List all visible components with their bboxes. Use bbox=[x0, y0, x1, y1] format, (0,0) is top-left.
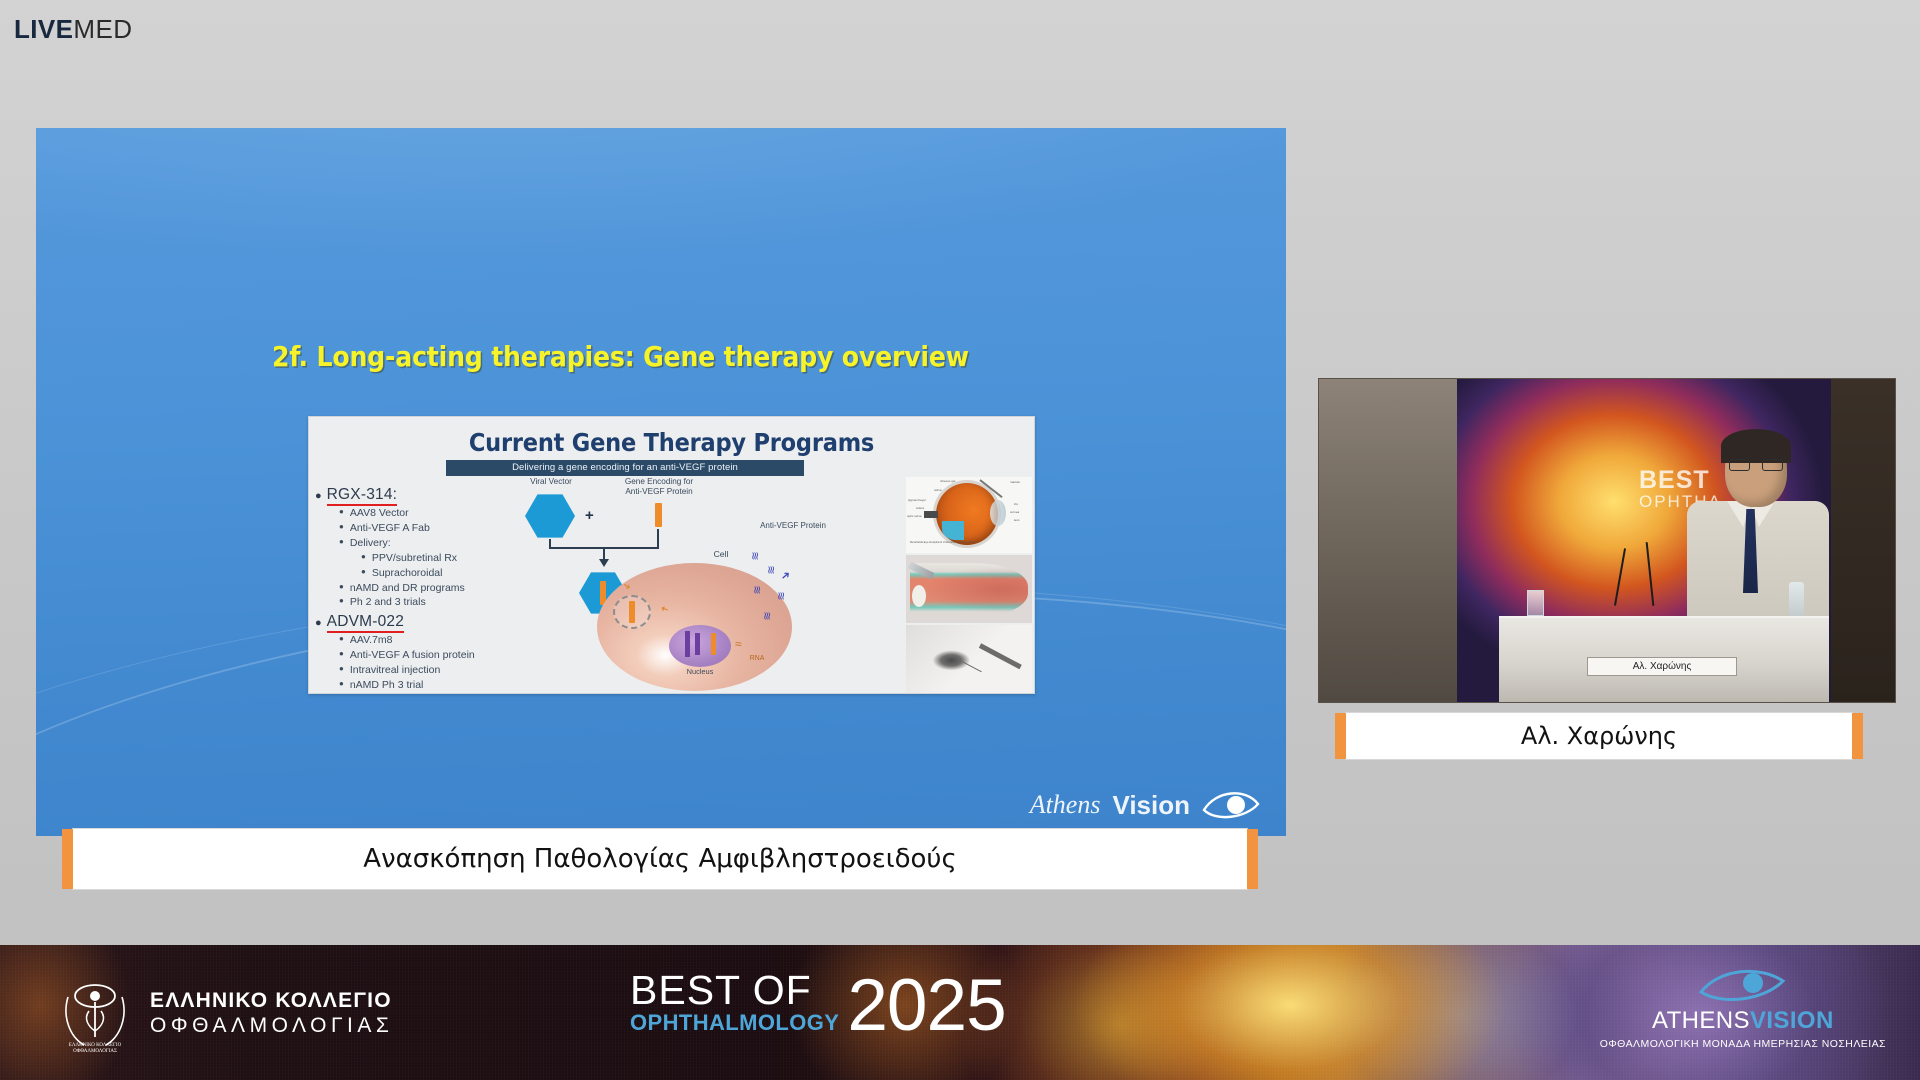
video-wall-right bbox=[1831, 379, 1895, 702]
gene-delivery-mechanism-diagram: Viral Vector + Gene Encoding for Anti-VE… bbox=[505, 477, 835, 694]
program-detail-text: Intravitreal injection bbox=[350, 663, 440, 678]
label-gene-encoding-line2: Anti-VEGF Protein bbox=[603, 487, 715, 497]
label-lens: lens bbox=[1014, 518, 1020, 522]
program-detail: ●Intravitreal injection bbox=[339, 663, 520, 678]
speaker-caption-bar: Αλ. Χαρώνης bbox=[1345, 712, 1853, 760]
water-bottle bbox=[1789, 582, 1804, 616]
caption-accent-right bbox=[1247, 829, 1258, 889]
podium-nameplate: Αλ. Χαρώνης bbox=[1587, 657, 1737, 676]
label-anti-vegf-protein: Anti-VEGF Protein bbox=[751, 521, 835, 531]
event-banner: ΕΛΛΗΝΙΚΟ ΚΟΛΛΕΓΙΟ ΟΦΘΑΛΜΟΛΟΓΙΑΣ ΕΛΛΗΝΙΚΟ… bbox=[0, 945, 1920, 1080]
arrow-head-down bbox=[599, 559, 609, 567]
bracket-right-leg bbox=[657, 529, 659, 549]
program-detail: ●Ph 2 and 3 trials bbox=[339, 595, 520, 610]
program-detail: ●nAMD Ph 3 trial bbox=[339, 678, 520, 693]
eye-illustration-panels: vitreous gel retina pigment layer sclera… bbox=[906, 477, 1032, 693]
bullet-dot: ● bbox=[339, 506, 344, 521]
best-of-ophthalmology-logo: BEST OF OPHTHALMOLOGY 2025 bbox=[630, 971, 1006, 1036]
vesicle-gene-bar bbox=[629, 601, 635, 623]
bullet-dot: ● bbox=[339, 663, 344, 678]
gene-bar bbox=[655, 503, 662, 527]
label-macula: macula bbox=[1010, 480, 1020, 484]
speaker-caption-accent-right bbox=[1852, 713, 1863, 759]
protein-squiggle-3: ≋ bbox=[751, 585, 764, 593]
best-of-text: BEST OF bbox=[630, 971, 839, 1010]
athens-vision-eye-icon bbox=[1202, 788, 1260, 822]
college-name-line1: ΕΛΛΗΝΙΚΟ ΚΟΛΛΕΓΙΟ bbox=[150, 989, 393, 1014]
figure-subtitle: Delivering a gene encoding for an anti-V… bbox=[446, 460, 804, 476]
athens-text: ATHENS bbox=[1652, 1007, 1750, 1034]
bullet-dot: ● bbox=[339, 536, 344, 551]
program-detail: ●Suprachoroidal bbox=[361, 566, 520, 581]
bullet-dot: ● bbox=[339, 678, 344, 693]
program-detail: ●Delivery: bbox=[339, 536, 520, 551]
water-glass bbox=[1527, 590, 1544, 616]
program-detail: ●nAMD and DR programs bbox=[339, 581, 520, 596]
nucleus-dna-bar-2 bbox=[695, 633, 700, 655]
bullet-dot: ● bbox=[361, 551, 366, 566]
bullet-dot: ● bbox=[315, 618, 322, 629]
nucleus-body bbox=[669, 625, 731, 667]
athens-vision-name: ATHENSVISION bbox=[1600, 1007, 1886, 1035]
program-heading: ●RGX-314: bbox=[315, 486, 520, 506]
bullet-dot: ● bbox=[339, 521, 344, 536]
lens-shape bbox=[912, 585, 926, 607]
label-optic-nerve: optic nerve bbox=[907, 514, 922, 518]
bullet-dot: ● bbox=[339, 581, 344, 596]
label-viral-vector: Viral Vector bbox=[511, 477, 591, 487]
program-detail: ●PPV/subretinal Rx bbox=[361, 551, 520, 566]
injection-sketch bbox=[906, 625, 1032, 693]
program-heading: ●ADVM-022 bbox=[315, 613, 520, 633]
viral-vector-hexagon bbox=[525, 493, 575, 539]
protein-squiggle-4: ≋ bbox=[775, 591, 788, 599]
protein-squiggle-2: ≋ bbox=[765, 565, 778, 573]
plus-symbol: + bbox=[585, 507, 594, 524]
label-nucleus: Nucleus bbox=[671, 667, 729, 676]
label-rna: RNA bbox=[743, 655, 771, 664]
program-name: RGX-314: bbox=[327, 486, 398, 506]
speaker-hair bbox=[1721, 429, 1791, 463]
label-gene-encoding-line1: Gene Encoding for bbox=[603, 477, 715, 487]
event-year: 2025 bbox=[847, 975, 1005, 1036]
athens-vision-eye-logo-icon bbox=[1697, 965, 1789, 1005]
bullet-dot: ● bbox=[315, 491, 322, 502]
college-name-line2: ΟΦΘΑΛΜΟΛΟΓΙΑΣ bbox=[150, 1014, 393, 1039]
brand-live: LIVE bbox=[14, 14, 73, 45]
hellenic-college-logo: ΕΛΛΗΝΙΚΟ ΚΟΛΛΕΓΙΟ ΟΦΘΑΛΜΟΛΟΓΙΑΣ ΕΛΛΗΝΙΚΟ… bbox=[58, 975, 393, 1053]
slide-title: 2f. Long-acting therapies: Gene therapy … bbox=[272, 340, 1172, 373]
vision-text: VISION bbox=[1750, 1007, 1834, 1034]
video-wall-left bbox=[1319, 379, 1457, 702]
program-detail: ●AAV8 Vector bbox=[339, 506, 520, 521]
college-name: ΕΛΛΗΝΙΚΟ ΚΟΛΛΕΓΙΟ ΟΦΘΑΛΜΟΛΟΓΙΑΣ bbox=[150, 989, 393, 1039]
program-detail-text: Anti-VEGF A fusion protein bbox=[350, 648, 475, 663]
protein-squiggle-1: ≋ bbox=[749, 551, 762, 559]
program-detail-text: nAMD and DR programs bbox=[350, 581, 465, 596]
program-detail-text: Delivery: bbox=[350, 536, 391, 551]
presentation-slide[interactable]: Athens Vision 2f. Long-acting therapies:… bbox=[36, 128, 1286, 836]
program-detail-text: nAMD Ph 3 trial bbox=[350, 678, 424, 693]
label-iris: iris bbox=[1014, 502, 1018, 506]
program-detail-text: AAV8 Vector bbox=[350, 506, 409, 521]
athens-vision-subtitle: ΟΦΘΑΛΜΟΛΟΓΙΚΗ ΜΟΝΑΔΑ ΗΜΕΡΗΣΙΑΣ ΝΟΣΗΛΕΙΑΣ bbox=[1600, 1038, 1886, 1050]
optic-nerve-stub bbox=[924, 511, 938, 518]
program-detail-text: Ph 2 and 3 trials bbox=[350, 595, 426, 610]
athens-vision-logo: ATHENSVISION ΟΦΘΑΛΜΟΛΟΓΙΚΗ ΜΟΝΑΔΑ ΗΜΕΡΗΣ… bbox=[1600, 965, 1886, 1050]
watermark-vision: Vision bbox=[1112, 790, 1190, 821]
speaker-name-text: Αλ. Χαρώνης bbox=[1521, 722, 1677, 750]
slide-caption-text: Ανασκόπηση Παθολογίας Αμφιβληστροειδούς bbox=[363, 844, 956, 874]
program-detail-text: AAV.7m8 bbox=[350, 633, 393, 648]
label-sclera: sclera bbox=[916, 506, 924, 510]
program-detail-text: Anti-VEGF A Fab bbox=[350, 521, 430, 536]
bullet-dot: ● bbox=[361, 566, 366, 581]
label-cell: Cell bbox=[701, 549, 741, 560]
retina-choroid-panel bbox=[906, 555, 1032, 623]
watermark-athens: Athens bbox=[1030, 790, 1101, 820]
cornea-lens bbox=[990, 500, 1006, 526]
label-pigment-layer: pigment layer bbox=[908, 498, 926, 502]
protein-export-arrow-icon: ➔ bbox=[778, 568, 793, 584]
slide-caption-bar: Ανασκόπηση Παθολογίας Αμφιβληστροειδούς bbox=[72, 828, 1248, 890]
nucleus-gene-bar bbox=[711, 633, 716, 655]
program-detail-text: Suprachoroidal bbox=[372, 566, 443, 581]
label-cornea: cornea bbox=[1010, 510, 1019, 514]
label-vitreous-gel: vitreous gel bbox=[940, 479, 955, 483]
speaker-glasses-icon bbox=[1729, 459, 1783, 471]
bullet-dot: ● bbox=[339, 633, 344, 648]
label-retina: retina bbox=[934, 488, 942, 492]
protein-squiggle-5: ≋ bbox=[761, 611, 774, 619]
ophthalmology-text: OPHTHALMOLOGY bbox=[630, 1010, 839, 1036]
nucleus-dna-bar-1 bbox=[685, 631, 690, 657]
eye-anatomy-panel: vitreous gel retina pigment layer sclera… bbox=[906, 477, 1032, 553]
label-panel-credit: Moorfields Eye Hospital & University Col… bbox=[910, 541, 980, 544]
program-name: ADVM-022 bbox=[327, 613, 404, 633]
emblem-text-line2: ΟΦΘΑΛΜΟΛΟΓΙΑΣ bbox=[73, 1049, 117, 1053]
program-detail: ●Anti-VEGF A Fab bbox=[339, 521, 520, 536]
college-emblem-icon: ΕΛΛΗΝΙΚΟ ΚΟΛΛΕΓΙΟ ΟΦΘΑΛΜΟΛΟΓΙΑΣ bbox=[58, 975, 132, 1053]
bullet-dot: ● bbox=[339, 595, 344, 610]
bracket-left-leg bbox=[549, 539, 551, 549]
livemed-logo: LIVEMED bbox=[14, 14, 132, 45]
program-detail: ●AAV.7m8 bbox=[339, 633, 520, 648]
brand-med: MED bbox=[73, 14, 132, 45]
injection-sketch-panel bbox=[906, 625, 1032, 693]
bullet-dot: ● bbox=[339, 648, 344, 663]
caption-accent-left bbox=[62, 829, 73, 889]
speaker-caption-accent-left bbox=[1335, 713, 1346, 759]
program-detail: ●Anti-VEGF A fusion protein bbox=[339, 648, 520, 663]
athens-vision-watermark: Athens Vision bbox=[1030, 788, 1260, 822]
rna-squiggle-icon: ≈ bbox=[735, 637, 742, 651]
glasses-lens-left bbox=[1729, 459, 1750, 471]
figure-title: Current Gene Therapy Programs bbox=[309, 428, 1034, 457]
glasses-lens-right bbox=[1762, 459, 1783, 471]
program-detail-text: PPV/subretinal Rx bbox=[372, 551, 457, 566]
vitreous-wedge bbox=[942, 521, 964, 540]
emblem-text-line1: ΕΛΛΗΝΙΚΟ ΚΟΛΛΕΓΙΟ bbox=[69, 1043, 122, 1048]
program-bullet-list: ●RGX-314:●AAV8 Vector●Anti-VEGF A Fab●De… bbox=[315, 483, 520, 694]
gene-therapy-figure: Current Gene Therapy Programs Delivering… bbox=[308, 416, 1035, 694]
speaker-video-feed[interactable]: BEST OPHTHA Αλ. Χαρώνης bbox=[1318, 378, 1896, 703]
